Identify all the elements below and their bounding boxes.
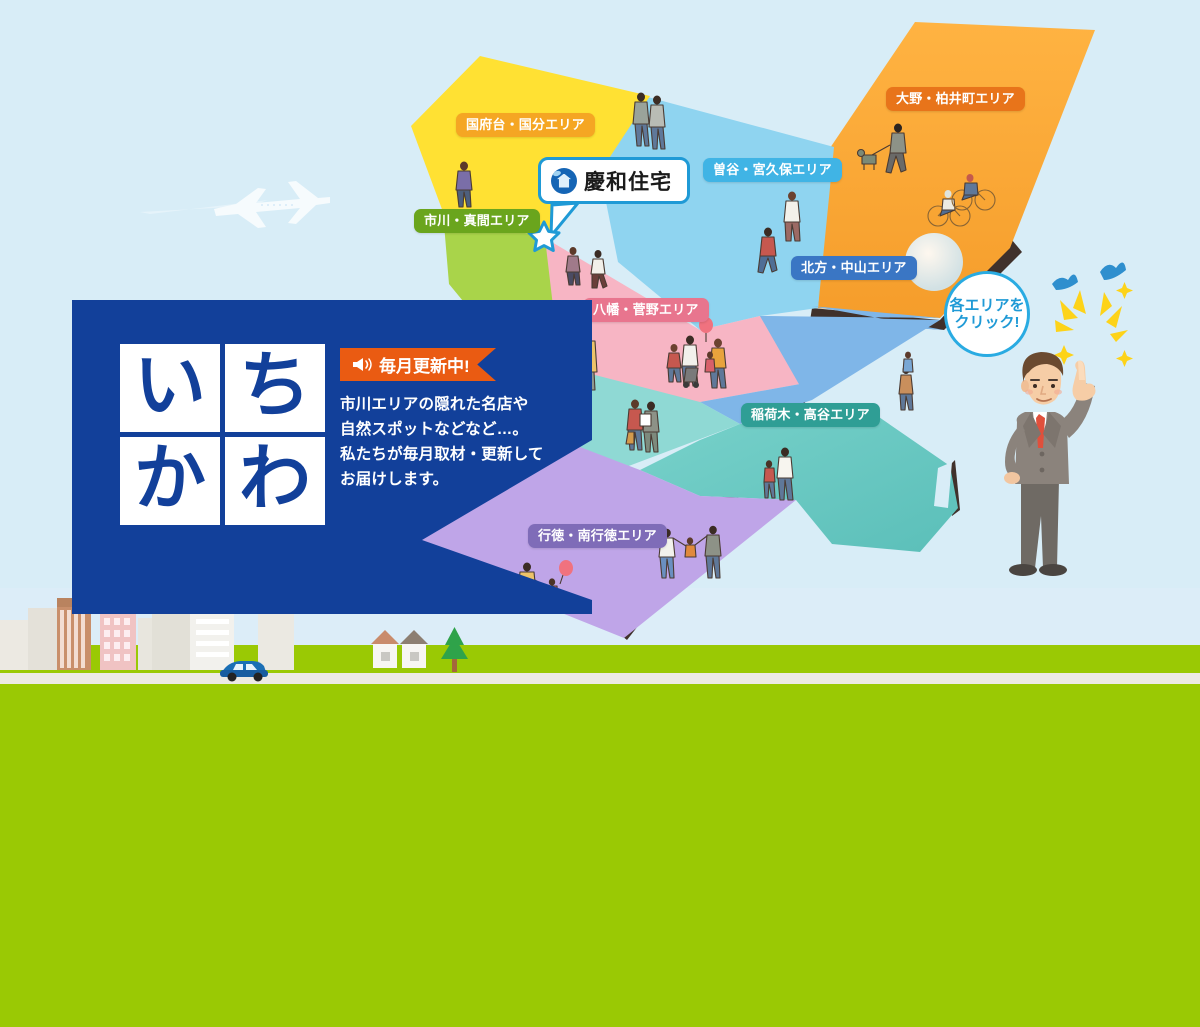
area-label-oono-kashiwaimachi[interactable]: 大野・柏井町エリア bbox=[886, 87, 1025, 111]
house-logo-icon bbox=[551, 168, 577, 194]
ichikawa-info-banner: い ち か わ 毎月更新中! 市川エリアの隠れた名店や 自然スポットなどなど…。… bbox=[72, 300, 592, 614]
monthly-update-ribbon: 毎月更新中! bbox=[340, 348, 496, 381]
kana-cell-ka: か bbox=[120, 437, 220, 525]
kana-cell-chi: ち bbox=[225, 344, 325, 432]
kana-cell-i: い bbox=[120, 344, 220, 432]
area-label-bokko-nakayama[interactable]: 北方・中山エリア bbox=[791, 256, 917, 280]
click-hint-line2: クリック! bbox=[955, 314, 1020, 331]
area-label-yawata-sugano[interactable]: 八幡・菅野エリア bbox=[583, 298, 709, 322]
area-label-kounodai-kokubun[interactable]: 国府台・国分エリア bbox=[456, 113, 595, 137]
megaphone-icon bbox=[352, 357, 372, 372]
click-each-area-hint[interactable]: 各エリアを クリック! bbox=[944, 271, 1030, 357]
kana-cell-wa: わ bbox=[225, 437, 325, 525]
banner-desc-line-1: 市川エリアの隠れた名店や bbox=[340, 392, 580, 417]
businessman-illustration bbox=[985, 330, 1105, 595]
area-label-toukanoki-kouya[interactable]: 稲荷木・高谷エリア bbox=[741, 403, 880, 427]
keiwa-jutaku-label: 慶和住宅 bbox=[584, 166, 672, 196]
banner-desc-line-3: 私たちが毎月取材・更新して bbox=[340, 442, 580, 467]
banner-desc-line-2: 自然スポットなどなど…。 bbox=[340, 417, 580, 442]
area-label-ichikawa-mama[interactable]: 市川・真間エリア bbox=[414, 209, 540, 233]
banner-desc-line-4: お届けします。 bbox=[340, 467, 580, 492]
ribbon-label: 毎月更新中! bbox=[379, 352, 470, 377]
banner-description: 市川エリアの隠れた名店や 自然スポットなどなど…。 私たちが毎月取材・更新して … bbox=[340, 392, 580, 492]
keiwa-jutaku-callout[interactable]: 慶和住宅 bbox=[538, 157, 690, 204]
ichikawa-kana-logo: い ち か わ bbox=[120, 344, 325, 525]
area-label-soya-miyakubo[interactable]: 曽谷・宮久保エリア bbox=[703, 158, 842, 182]
page-root: 慶和住宅 各エリアを クリック! 国府台・国分エリア市川・真間エリア曽谷・宮久保… bbox=[0, 0, 1200, 1027]
click-hint-line1: 各エリアを bbox=[949, 297, 1024, 314]
